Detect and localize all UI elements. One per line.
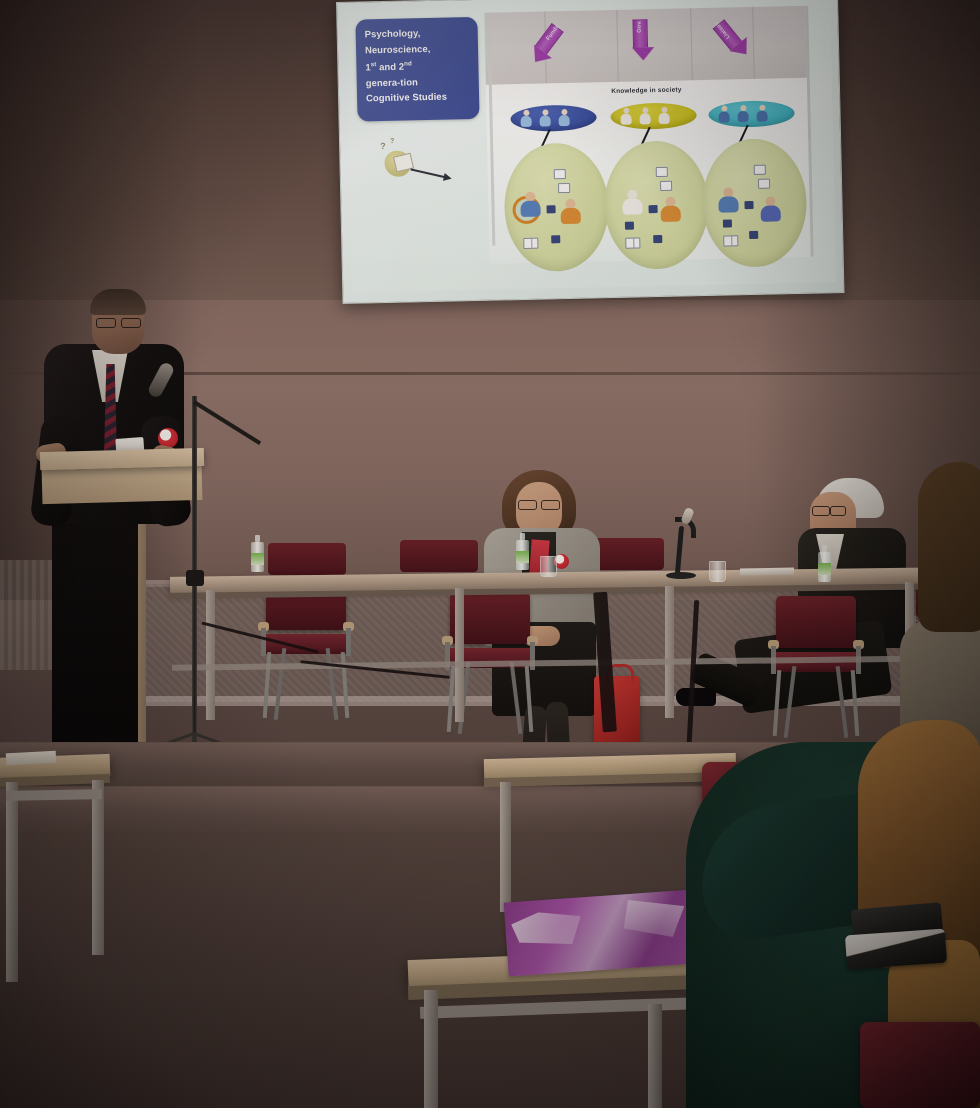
mic-stand-clamp: [186, 570, 204, 586]
dark-document-icon: [749, 231, 758, 239]
desk-leg: [500, 782, 511, 912]
mini-person-icon: [717, 105, 730, 122]
slide-title-badge: Psychology, Neuroscience, 1st and 2nd ge…: [355, 17, 479, 122]
person-icon: [660, 197, 681, 222]
screen-surface: Funds Gov. Liaison Knowledge in society: [336, 0, 844, 304]
question-scribble-icon: ??: [378, 140, 419, 187]
chair-back: [400, 540, 478, 572]
gooseneck-microphone: [664, 505, 698, 579]
glasses-icon: [812, 506, 846, 514]
white-smartphone: [845, 929, 947, 970]
projection-screen: Funds Gov. Liaison Knowledge in society: [336, 0, 844, 304]
glasses-icon: [518, 500, 560, 508]
person-icon: [760, 196, 781, 221]
person-icon: [560, 199, 581, 224]
document-icon: [558, 183, 570, 193]
dark-document-icon: [744, 201, 753, 209]
dark-document-icon: [546, 205, 555, 213]
document-icon: [660, 181, 672, 191]
desk-leg: [648, 1004, 662, 1108]
table-leg: [665, 586, 674, 718]
book-icon: [723, 235, 738, 246]
table-leg: [455, 588, 464, 722]
plastic-cup: [709, 561, 726, 582]
mini-person-icon: [519, 110, 532, 127]
water-bottle: [516, 533, 529, 570]
document-icon: [554, 169, 566, 179]
person-icon: [718, 187, 739, 212]
microphone-icon: [146, 361, 175, 399]
dark-document-icon: [723, 219, 732, 227]
speaker-lower-body: [52, 502, 138, 752]
dark-document-icon: [551, 235, 560, 243]
desk-cross-rail: [6, 789, 102, 801]
slide-diagram: Funds Gov. Liaison Knowledge in society: [484, 6, 813, 264]
title-line-5: Cognitive Studies: [366, 88, 471, 106]
mini-person-icon: [755, 105, 768, 122]
dark-document-icon: [649, 205, 658, 213]
conference-chair: [258, 578, 354, 728]
panelist-right-shoe: [676, 688, 716, 706]
microphone-stand: [148, 356, 258, 768]
mini-person-icon: [657, 107, 670, 124]
person-icon: [520, 192, 541, 217]
dark-document-icon: [625, 222, 634, 230]
document-icon: [656, 167, 668, 177]
plastic-cup: [540, 556, 557, 577]
book-icon: [625, 237, 640, 248]
audience-chair: [860, 1022, 980, 1108]
desk-leg: [424, 990, 438, 1108]
desk-leg: [6, 782, 18, 982]
book-icon: [523, 238, 538, 249]
person-icon: [622, 189, 643, 214]
water-bottle: [818, 545, 831, 582]
document-icon: [758, 179, 770, 189]
mini-person-icon: [619, 108, 632, 125]
mini-person-icon: [557, 109, 570, 126]
mini-person-icon: [736, 105, 749, 122]
purple-brochure: [504, 889, 699, 976]
dark-document-icon: [653, 235, 662, 243]
mini-person-icon: [538, 109, 551, 126]
audience-right-head: [918, 462, 980, 632]
chair-back: [268, 543, 346, 575]
speaker-hair: [90, 289, 146, 315]
conference-chair: [768, 596, 864, 746]
glasses-icon: [96, 318, 141, 326]
document-icon: [754, 165, 766, 175]
mini-person-icon: [638, 107, 651, 124]
gov-arrow-label: Gov.: [636, 12, 643, 40]
paper-stack: [740, 568, 794, 576]
gov-arrow: Gov.: [631, 19, 649, 60]
title-line-3: 1st and 2nd: [365, 55, 470, 75]
presentation-slide: Funds Gov. Liaison Knowledge in society: [345, 0, 836, 293]
conference-photo: Funds Gov. Liaison Knowledge in society: [0, 0, 980, 1108]
desk-leg: [92, 780, 104, 955]
